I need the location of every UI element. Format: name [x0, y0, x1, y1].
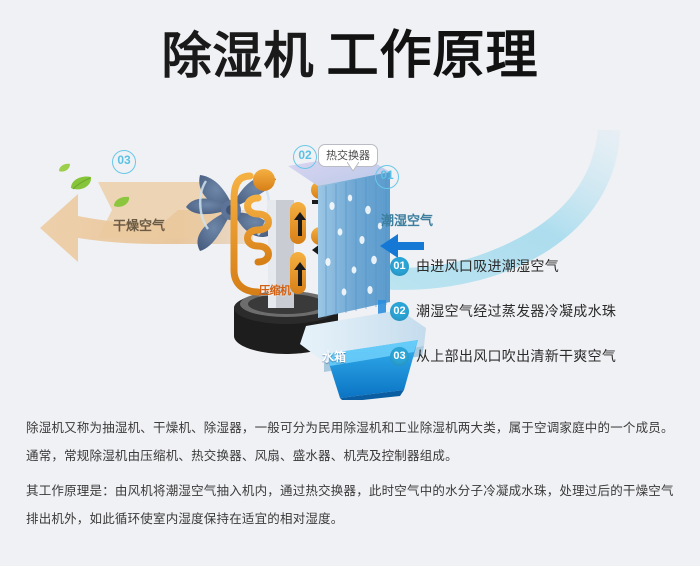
leaf-icon-large	[70, 176, 92, 197]
legend-item-02: 02 潮湿空气经过蒸发器冷凝成水珠	[390, 300, 690, 322]
page-title: 除湿机工作原理	[0, 30, 700, 82]
callout-tail-icon	[347, 162, 359, 171]
legend-item-01: 01 由进风口吸进潮湿空气	[390, 255, 690, 277]
legend-badge-03: 03	[390, 347, 409, 366]
paragraph-2-line-2: 排出机外，如此循环使室内湿度保持在适宜的相对湿度。	[26, 509, 676, 530]
legend-item-03: 03 从上部出风口吹出清新干爽空气	[390, 345, 690, 367]
diagram-marker-02: 02	[293, 145, 317, 169]
water-tank-label: 水箱	[322, 348, 346, 365]
dry-air-label: 干燥空气	[113, 215, 165, 234]
heat-exchanger-callout: 热交换器	[318, 144, 378, 167]
legend-text-03: 从上部出风口吹出清新干爽空气	[416, 346, 616, 366]
diagram-marker-03: 03	[112, 150, 136, 174]
page-title-part-one: 除湿机	[161, 28, 314, 84]
humid-air-label: 潮湿空气	[381, 210, 433, 229]
legend-badge-01: 01	[390, 257, 409, 276]
leaf-icon-mid	[113, 196, 130, 214]
heat-exchanger-label: 热交换器	[326, 150, 370, 162]
legend-text-02: 潮湿空气经过蒸发器冷凝成水珠	[416, 301, 616, 321]
compressor-label: 压缩机	[259, 282, 291, 298]
paragraph-2-line-1: 其工作原理是：由风机将潮湿空气抽入机内，通过热交换器，此时空气中的水分子冷凝成水…	[26, 481, 676, 502]
dehumidifier-infographic: 除湿机工作原理	[0, 0, 700, 566]
steps-legend: 01 由进风口吸进潮湿空气 02 潮湿空气经过蒸发器冷凝成水珠 03 从上部出风…	[390, 255, 690, 390]
paragraph-1-line-1: 除湿机又称为抽湿机、干燥机、除湿器，一般可分为民用除湿机和工业除湿机两大类，属于…	[26, 418, 676, 439]
diagram-marker-01: 01	[375, 165, 399, 189]
paragraph-1-line-2: 通常，常规除湿机由压缩机、热交换器、风扇、盛水器、机壳及控制器组成。	[26, 446, 676, 467]
page-title-part-two: 工作原理	[326, 27, 538, 85]
description-text: 除湿机又称为抽湿机、干燥机、除湿器，一般可分为民用除湿机和工业除湿机两大类，属于…	[26, 418, 676, 537]
legend-text-01: 由进风口吸进潮湿空气	[416, 256, 559, 276]
legend-badge-02: 02	[390, 302, 409, 321]
